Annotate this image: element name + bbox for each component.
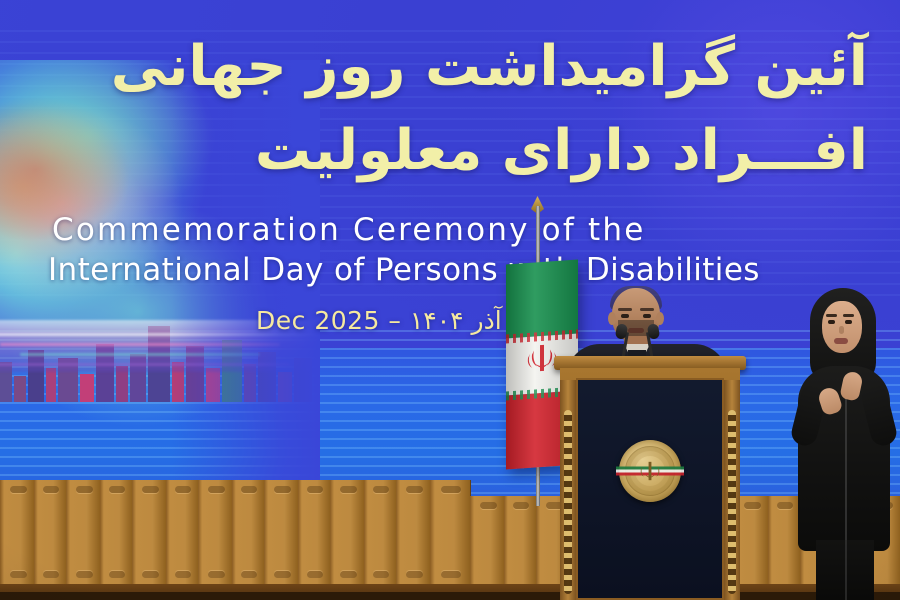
banner-persian-headline-1: آئین گرامیداشت روز جهانی [111,34,868,99]
stage-wood-paneling-left [0,480,470,586]
podium-medallion [619,440,681,502]
banner-english-line-2: International Day of Persons with Disabi… [48,252,760,288]
ceremony-photo: آئین گرامیداشت روز جهانی افـــراد دارای … [0,0,900,600]
podium-inlay-dots-left [564,410,572,594]
speaker-mouth [628,328,644,333]
banner-english-line-1: Commemoration Ceremony of the [52,212,646,248]
speaking-podium [560,356,740,600]
podium-inlay-dots-right [728,410,736,594]
sign-language-interpreter [792,288,900,600]
banner-date-line: Dec 2025 – آذر ۱۴۰۴ [256,306,502,335]
podium-column-left [560,380,576,600]
medallion-emblem-icon [638,460,662,482]
interpreter-trousers [816,540,874,600]
podium-front-panel [576,378,724,600]
interpreter-mouth [834,338,848,344]
banner-persian-headline-2: افـــراد دارای معلولیت [255,118,868,183]
podium-column-right [724,380,740,600]
stage-floor [0,592,900,600]
